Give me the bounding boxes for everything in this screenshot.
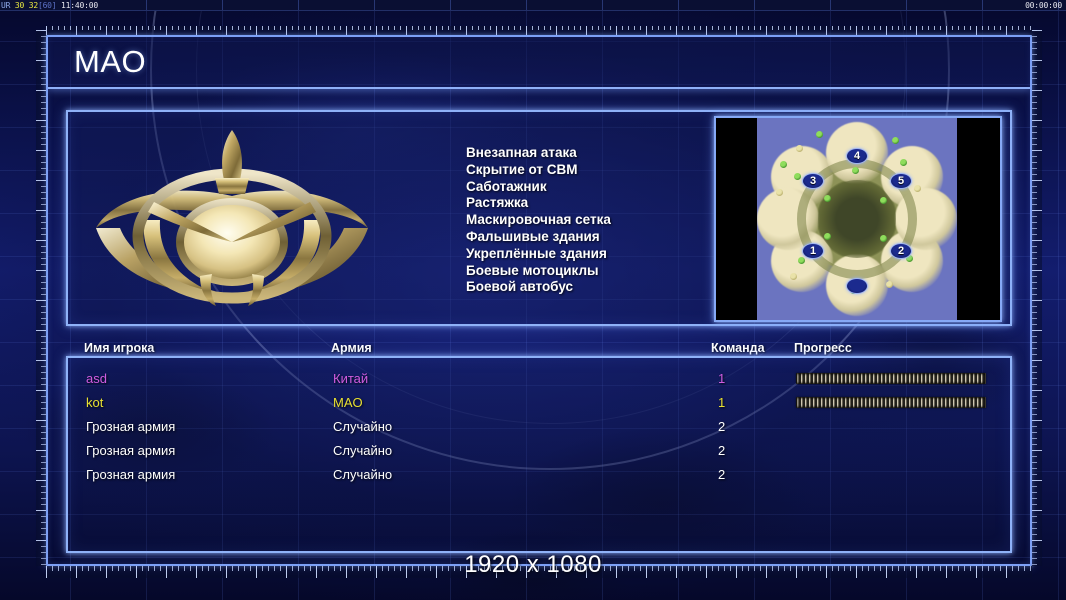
minimap-resource-icon [794,173,801,180]
faction-info-panel: Внезапная атака Скрытие от СВМ Саботажни… [66,110,1012,326]
minimap-start-position[interactable] [846,278,868,294]
table-row[interactable]: asd Китай 1 [68,366,1010,390]
minimap-resource-icon [776,189,783,196]
ability-item: Боевые мотоциклы [466,263,611,280]
minimap-resource-icon [892,137,899,144]
page-title: MAO [74,44,146,80]
ruler-top [46,26,1032,35]
status-value-1: 30 [15,1,24,10]
minimap-resource-icon [798,257,805,264]
player-name: Грозная армия [86,467,175,482]
player-army[interactable]: Китай [333,371,368,386]
player-team[interactable]: 2 [718,443,725,458]
status-bar-left: UR 30 32[60] 11:40:00 [0,1,98,10]
minimap-image: 1 2 3 4 5 [757,118,957,320]
status-clock-left: 11:40:00 [61,1,98,10]
player-team[interactable]: 1 [718,395,725,410]
player-name: Грозная армия [86,443,175,458]
minimap-center [818,180,896,258]
minimap-resource-icon [780,161,787,168]
ruler-right [1032,30,1042,566]
column-header-team: Команда [711,341,765,355]
player-army[interactable]: MAO [333,395,363,410]
top-status-bar: UR 30 32[60] 11:40:00 00:00:00 [0,0,1066,11]
player-name: Грозная армия [86,419,175,434]
minimap-resource-icon [852,167,859,174]
player-table: asd Китай 1 kot MAO 1 Грозная армия Случ… [66,356,1012,553]
ability-item: Фальшивые здания [466,229,611,246]
status-clock-right: 00:00:00 [1025,1,1062,10]
title-bar: MAO [48,37,1030,89]
ability-item: Боевой автобус [466,279,611,296]
minimap-preview[interactable]: 1 2 3 4 5 [714,116,1002,322]
ability-item: Растяжка [466,195,611,212]
player-name: kot [86,395,103,410]
player-table-header: Имя игрока Армия Команда Прогресс [66,336,1012,356]
minimap-resource-icon [790,273,797,280]
ability-item: Скрытие от СВМ [466,162,611,179]
status-bracket: [60] [38,1,56,10]
minimap-resource-icon [796,145,803,152]
minimap-resource-icon [900,159,907,166]
minimap-resource-icon [824,233,831,240]
faction-ability-list: Внезапная атака Скрытие от СВМ Саботажни… [466,145,611,296]
column-header-progress: Прогресс [794,341,852,355]
minimap-resource-icon [824,195,831,202]
ability-item: Укреплённые здания [466,246,611,263]
minimap-resource-icon [880,235,887,242]
player-team[interactable]: 1 [718,371,725,386]
player-team[interactable]: 2 [718,419,725,434]
faction-emblem-icon [82,124,382,314]
player-army[interactable]: Случайно [333,419,392,434]
player-army[interactable]: Случайно [333,443,392,458]
table-row[interactable]: Грозная армия Случайно 2 [68,414,1010,438]
resolution-label: 1920 x 1080 [0,551,1066,579]
column-header-army: Армия [331,341,372,355]
ability-item: Саботажник [466,179,611,196]
minimap-start-position[interactable]: 3 [802,173,824,189]
player-progress-bar [796,397,986,408]
game-lobby-screen: UR 30 32[60] 11:40:00 00:00:00 MAO [0,0,1066,600]
column-header-name: Имя игрока [84,341,154,355]
table-row[interactable]: Грозная армия Случайно 2 [68,462,1010,486]
minimap-start-position[interactable]: 5 [890,173,912,189]
status-value-2: 32 [29,1,38,10]
player-progress-bar [796,373,986,384]
ability-item: Внезапная атака [466,145,611,162]
minimap-resource-icon [914,185,921,192]
ability-item: Маскировочная сетка [466,212,611,229]
table-row[interactable]: Грозная армия Случайно 2 [68,438,1010,462]
player-team[interactable]: 2 [718,467,725,482]
table-row[interactable]: kot MAO 1 [68,390,1010,414]
player-name: asd [86,371,107,386]
player-army[interactable]: Случайно [333,467,392,482]
status-bar-grid [0,0,1066,10]
minimap-resource-icon [880,197,887,204]
minimap-resource-icon [886,281,893,288]
ruler-left [36,30,46,566]
status-label: UR [1,1,10,10]
minimap-resource-icon [816,131,823,138]
